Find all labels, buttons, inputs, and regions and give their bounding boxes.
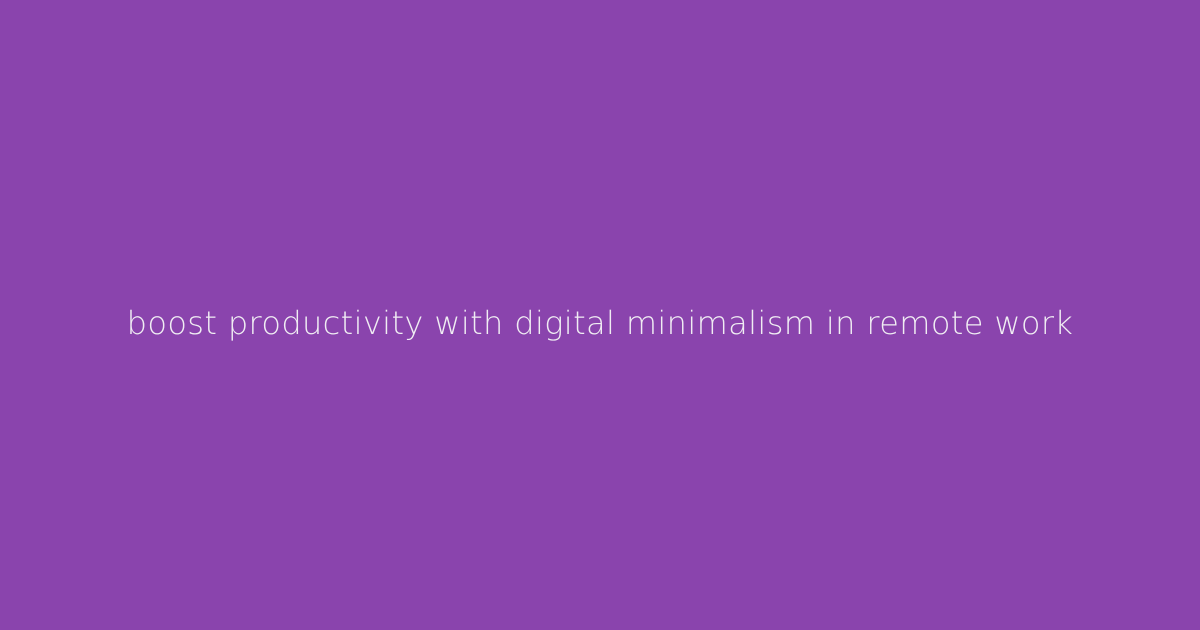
card-headline: boost productivity with digital minimali… [127, 303, 1074, 343]
card-content-wrapper: boost productivity with digital minimali… [0, 295, 1200, 335]
og-card-canvas: boost productivity with digital minimali… [0, 0, 1200, 630]
